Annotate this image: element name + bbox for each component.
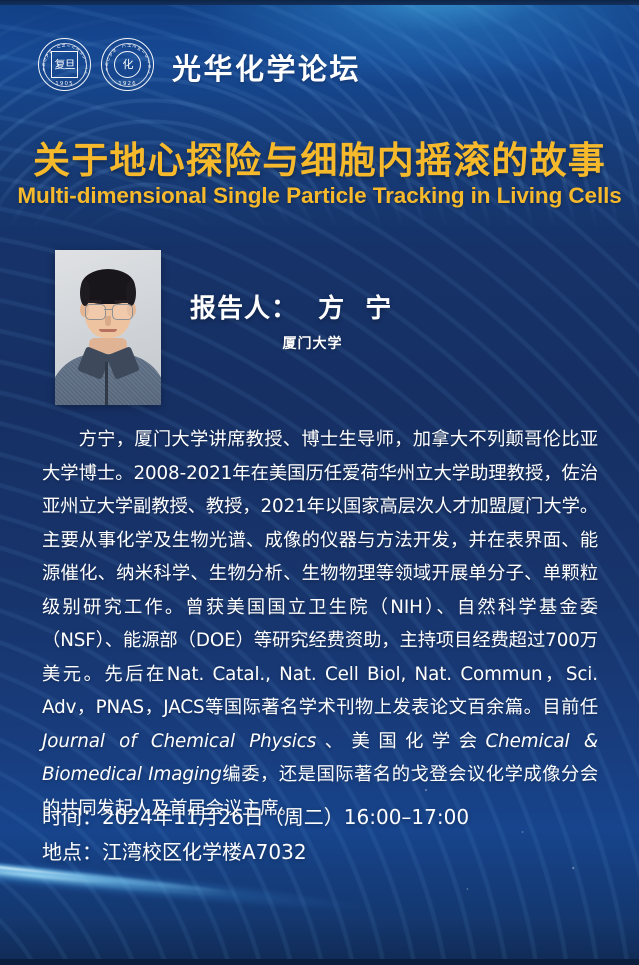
speaker-portrait-photo — [55, 250, 161, 405]
event-location: 地点：江湾校区化学楼A7032 — [42, 835, 469, 870]
seminar-poster: FUDAN UNIVERSITY 复旦 1905 FUDAN CHEMISTRY… — [0, 0, 639, 965]
fudan-chemistry-seal-icon: FUDAN CHEMISTRY 化 1926 — [101, 38, 154, 91]
portrait-eyebrow-left — [87, 300, 102, 303]
portrait-glasses-left-lens — [85, 304, 106, 320]
fudan-university-seal-year: 1905 — [39, 81, 90, 87]
biography-journal-one: Journal of Chemical Physics — [42, 731, 316, 752]
speaker-biography: 方宁，厦门大学讲席教授、博士生导师，加拿大不列颠哥伦比亚大学博士。2008-20… — [42, 423, 598, 825]
biography-main-text: 方宁，厦门大学讲席教授、博士生导师，加拿大不列颠哥伦比亚大学博士。2008-20… — [42, 429, 598, 718]
event-time: 时间：2024年11月26日（周二）16:00–17:00 — [42, 800, 469, 835]
portrait-nose — [105, 316, 111, 326]
logo-group: FUDAN UNIVERSITY 复旦 1905 FUDAN CHEMISTRY… — [38, 38, 154, 91]
fudan-chemistry-seal-year: 1926 — [102, 81, 153, 87]
portrait-mouth — [99, 329, 117, 332]
portrait-eyebrow-right — [114, 300, 129, 303]
biography-mid-text: 、美国化学会 — [316, 731, 485, 752]
speaker-name-line: 报告人： 方 宁 — [190, 288, 392, 325]
event-info: 时间：2024年11月26日（周二）16:00–17:00 地点：江湾校区化学楼… — [42, 800, 469, 870]
forum-name: 光华化学论坛 — [172, 46, 361, 88]
portrait-shirt-placket — [105, 362, 108, 405]
fudan-university-seal-icon: FUDAN UNIVERSITY 复旦 1905 — [38, 38, 91, 91]
portrait-glasses-right-lens — [112, 304, 133, 320]
portrait-glasses-bridge — [104, 309, 112, 310]
speaker-affiliation: 厦门大学 — [190, 333, 435, 353]
poster-header: FUDAN UNIVERSITY 复旦 1905 FUDAN CHEMISTRY… — [0, 0, 639, 112]
poster-title-chinese: 关于地心探险与细胞内摇滚的故事 — [0, 130, 639, 184]
poster-title-english: Multi-dimensional Single Particle Tracki… — [0, 183, 639, 209]
biography-paragraph: 方宁，厦门大学讲席教授、博士生导师，加拿大不列颠哥伦比亚大学博士。2008-20… — [42, 423, 598, 825]
bottom-border-band — [0, 959, 639, 965]
